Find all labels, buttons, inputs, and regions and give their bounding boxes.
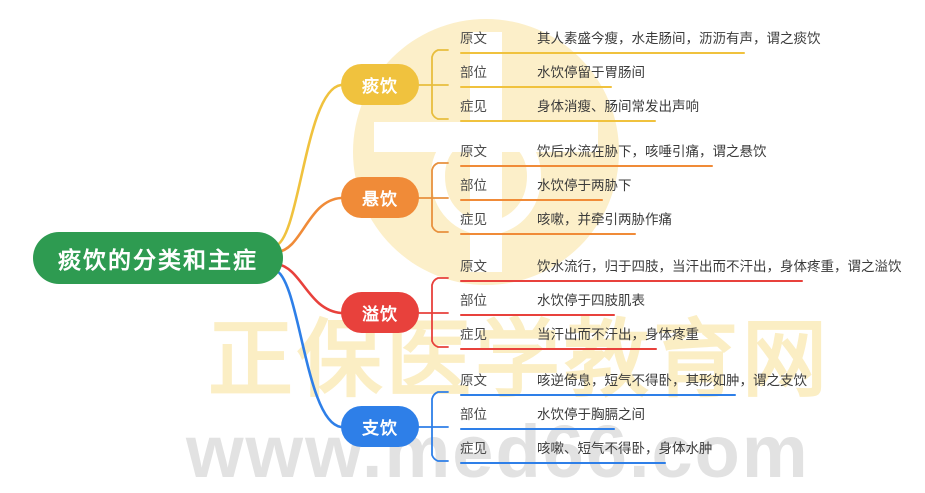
row-text: 其人素盛今瘦，水走肠间，沥沥有声，谓之痰饮 (537, 28, 821, 50)
trunk-line-2 (277, 198, 341, 252)
row-underline (460, 428, 615, 430)
row-underline (460, 86, 612, 88)
row-underline (460, 120, 656, 122)
row-text: 水饮停于两胁下 (537, 175, 632, 197)
row-text: 水饮停于胸膈之间 (537, 404, 645, 426)
row-underline (460, 165, 713, 167)
branch-node-zhiyin[interactable]: 支饮 (341, 406, 419, 447)
row-text: 咳嗽，并牵引两胁作痛 (537, 209, 672, 231)
row-label: 原文 (460, 370, 487, 392)
row-label: 部位 (460, 175, 487, 197)
row-text: 身体消瘦、肠间常发出声响 (537, 96, 699, 118)
root-node-label: 痰饮的分类和主症 (58, 241, 258, 275)
mindmap-canvas: 正保医学教育网 www.med66.com (0, 0, 925, 493)
branch-node-label: 溢饮 (362, 300, 398, 325)
trunk-line-4 (275, 270, 341, 427)
row-underline (460, 233, 636, 235)
trunk-line-3 (277, 264, 341, 313)
row-underline (460, 199, 603, 201)
row-underline (460, 280, 803, 282)
row-text: 当汗出而不汗出，身体疼重 (537, 324, 699, 346)
bracket-3 (419, 278, 448, 347)
trunk-line-1 (275, 85, 341, 246)
row-text: 水饮停留于胃肠间 (537, 62, 645, 84)
row-text: 咳逆倚息，短气不得卧，其形如肿，谓之支饮 (537, 370, 807, 392)
watermark-url-text: www.med66.com (186, 415, 810, 489)
row-label: 症见 (460, 438, 487, 460)
row-label: 原文 (460, 28, 487, 50)
bracket-2 (419, 163, 448, 232)
bracket-4 (419, 392, 448, 461)
row-underline (460, 314, 615, 316)
row-text: 咳嗽、短气不得卧，身体水肿 (537, 438, 713, 460)
row-text: 水饮停于四肢肌表 (537, 290, 645, 312)
row-label: 症见 (460, 209, 487, 231)
row-label: 部位 (460, 290, 487, 312)
bracket-1 (419, 50, 448, 119)
row-text: 饮水流行，归于四肢，当汗出而不汗出，身体疼重，谓之溢饮 (537, 256, 902, 278)
branch-node-xuanyin[interactable]: 悬饮 (341, 177, 419, 218)
row-label: 部位 (460, 404, 487, 426)
root-node[interactable]: 痰饮的分类和主症 (33, 232, 283, 284)
branch-node-label: 支饮 (362, 414, 398, 439)
row-underline (460, 348, 657, 350)
branch-node-tanyin[interactable]: 痰饮 (341, 64, 419, 105)
branch-node-yiyin[interactable]: 溢饮 (341, 292, 419, 333)
row-label: 症见 (460, 324, 487, 346)
row-label: 原文 (460, 256, 487, 278)
row-underline (460, 52, 745, 54)
row-underline (460, 394, 736, 396)
row-underline (460, 462, 666, 464)
row-label: 部位 (460, 62, 487, 84)
row-label: 症见 (460, 96, 487, 118)
branch-node-label: 悬饮 (362, 185, 398, 210)
row-text: 饮后水流在胁下，咳唾引痛，谓之悬饮 (537, 141, 767, 163)
branch-node-label: 痰饮 (362, 72, 398, 97)
row-label: 原文 (460, 141, 487, 163)
